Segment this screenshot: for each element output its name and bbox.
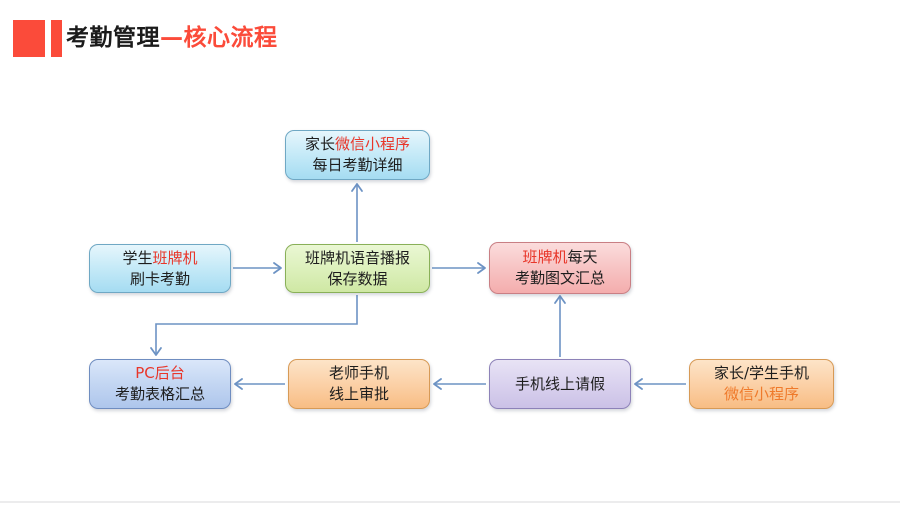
node-text-line: 考勤图文汇总: [515, 268, 605, 289]
node-text-segment: 班牌机语音播报: [305, 249, 410, 267]
node-text-segment: 家长: [305, 135, 335, 153]
node-text-line: 保存数据: [327, 269, 387, 290]
flow-diagram: 家长微信小程序每日考勤详细学生班牌机刷卡考勤班牌机语音播报保存数据班牌机每天考勤…: [0, 0, 900, 510]
arrow-voice-to-pc-backend: [156, 295, 357, 355]
node-text-segment: 班牌机: [153, 249, 198, 267]
node-text-line: 每日考勤详细: [312, 155, 402, 176]
parent-wechat-miniprogram-node[interactable]: 家长微信小程序每日考勤详细: [285, 130, 430, 180]
node-text-segment: 家长/学生手机: [714, 364, 809, 382]
node-text-segment: 班牌机: [522, 248, 567, 266]
teacher-mobile-approval-node[interactable]: 老师手机线上审批: [288, 359, 430, 409]
node-text-line: 家长微信小程序: [305, 134, 410, 155]
node-text-segment: 每天: [568, 248, 598, 266]
node-text-segment: 学生: [122, 249, 152, 267]
footer-divider: [0, 501, 900, 503]
node-text-line: 老师手机: [329, 363, 389, 384]
node-text-segment: 考勤表格汇总: [115, 385, 205, 403]
node-text-line: 刷卡考勤: [130, 269, 190, 290]
node-text-line: 手机线上请假: [515, 374, 605, 395]
node-text-line: 学生班牌机: [122, 248, 197, 269]
badge-daily-summary-node[interactable]: 班牌机每天考勤图文汇总: [489, 242, 631, 294]
node-text-segment: 微信小程序: [335, 135, 410, 153]
parent-student-mobile-node[interactable]: 家长/学生手机微信小程序: [689, 359, 834, 409]
node-text-line: 考勤表格汇总: [115, 384, 205, 405]
node-text-line: PC后台: [135, 363, 185, 384]
node-text-segment: PC后台: [135, 364, 185, 382]
slide-canvas: 考勤管理—核心流程 家长微信小程序每日考勤详细学生班牌机刷卡考勤班牌机语音播报保…: [0, 0, 900, 510]
pc-backend-node[interactable]: PC后台考勤表格汇总: [89, 359, 231, 409]
node-text-segment: 每日考勤详细: [312, 156, 402, 174]
mobile-leave-request-node[interactable]: 手机线上请假: [489, 359, 631, 409]
node-text-segment: 老师手机: [329, 364, 389, 382]
badge-voice-broadcast-node[interactable]: 班牌机语音播报保存数据: [285, 244, 430, 293]
node-text-segment: 微信小程序: [724, 385, 799, 403]
node-text-segment: 线上审批: [329, 385, 389, 403]
node-text-segment: 考勤图文汇总: [515, 269, 605, 287]
node-text-line: 微信小程序: [724, 384, 799, 405]
node-text-segment: 手机线上请假: [515, 375, 605, 393]
node-text-segment: 保存数据: [327, 270, 387, 288]
node-text-line: 班牌机语音播报: [305, 248, 410, 269]
student-badge-machine-node[interactable]: 学生班牌机刷卡考勤: [89, 244, 231, 293]
node-text-segment: 刷卡考勤: [130, 270, 190, 288]
node-text-line: 线上审批: [329, 384, 389, 405]
node-text-line: 家长/学生手机: [714, 363, 809, 384]
node-text-line: 班牌机每天: [522, 247, 597, 268]
